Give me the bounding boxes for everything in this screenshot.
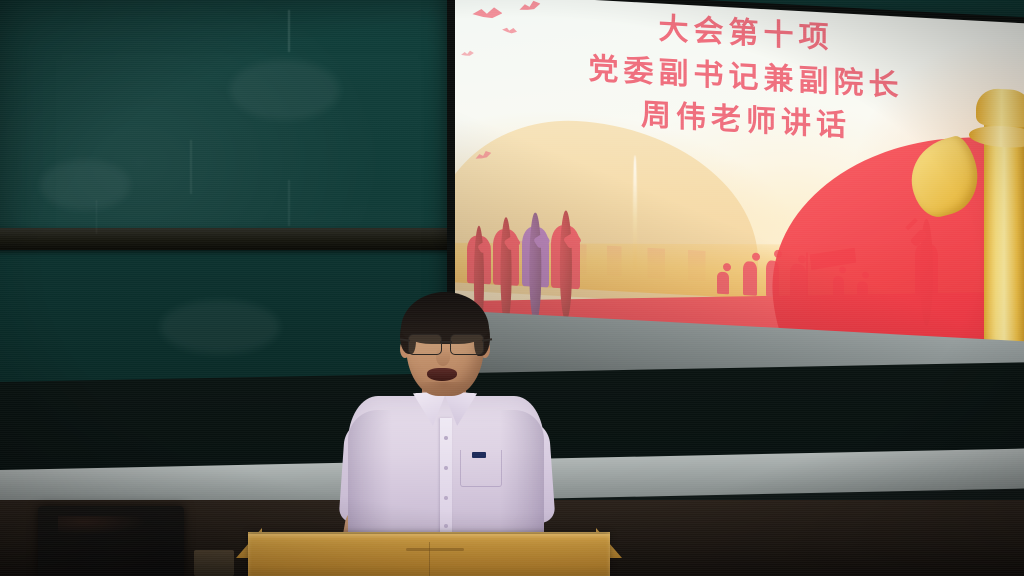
shirt-shading-right <box>500 410 544 546</box>
soldier-silhouette <box>551 202 580 290</box>
crowd-silhouette <box>743 261 757 296</box>
speaker <box>330 292 566 542</box>
lectern <box>236 528 622 576</box>
crowd-silhouette <box>717 271 729 294</box>
mouth <box>427 368 457 381</box>
laptop-lid <box>38 506 184 576</box>
shirt-button <box>444 496 448 500</box>
soldier-silhouette <box>467 217 491 284</box>
pen-icon <box>472 452 486 458</box>
crowd-silhouette <box>752 253 760 261</box>
shirt-button <box>444 466 448 470</box>
glasses-lens-right <box>450 334 484 355</box>
soldier-silhouette <box>493 209 519 286</box>
glasses-bridge <box>440 341 452 343</box>
shirt-button <box>444 436 448 440</box>
laptop-screen-glint <box>58 516 146 536</box>
laptop <box>38 506 184 576</box>
crowd-silhouette <box>723 263 731 271</box>
glasses-lens-left <box>408 334 442 355</box>
glasses-temple-right <box>482 338 492 341</box>
chin-shading <box>418 382 470 396</box>
chalk-tray <box>0 228 455 250</box>
soldier-silhouette <box>522 204 549 287</box>
glasses-icon <box>404 334 488 354</box>
lectern-trim <box>406 548 464 551</box>
photo-scene: 大会第十项 党委副书记兼副院长 周伟老师讲话 <box>0 0 1024 576</box>
shirt-shading-left <box>348 410 392 546</box>
desk-object <box>194 550 234 576</box>
